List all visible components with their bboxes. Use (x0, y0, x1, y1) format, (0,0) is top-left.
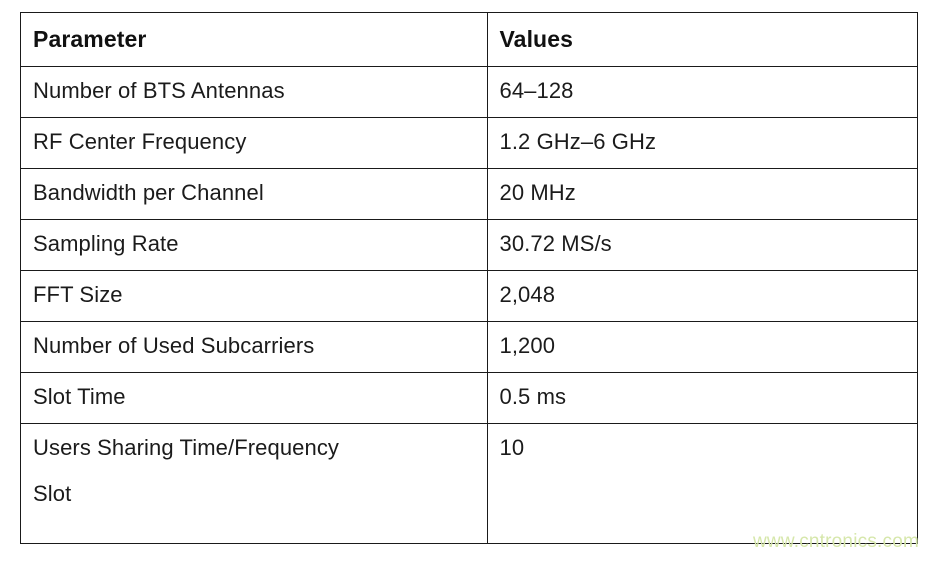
cell-parameter-line-2: Slot (33, 479, 487, 509)
column-header-parameter: Parameter (21, 13, 487, 67)
cell-parameter: Slot Time (21, 373, 487, 424)
column-header-values: Values (487, 13, 917, 67)
cell-value: 2,048 (487, 271, 917, 322)
table-row: Sampling Rate 30.72 MS/s (21, 220, 917, 271)
page-root: Parameter Values Number of BTS Antennas … (0, 0, 935, 566)
cell-parameter: Bandwidth per Channel (21, 169, 487, 220)
table-body: Number of BTS Antennas 64–128 RF Center … (21, 67, 917, 544)
cell-parameter: RF Center Frequency (21, 118, 487, 169)
table-row: FFT Size 2,048 (21, 271, 917, 322)
cell-parameter: Number of BTS Antennas (21, 67, 487, 118)
cell-value: 64–128 (487, 67, 917, 118)
table-row: Bandwidth per Channel 20 MHz (21, 169, 917, 220)
table-header-row: Parameter Values (21, 13, 917, 67)
cell-parameter-line-1: Users Sharing Time/Frequency (33, 435, 339, 460)
cell-value: 20 MHz (487, 169, 917, 220)
table-row: Number of BTS Antennas 64–128 (21, 67, 917, 118)
cell-parameter: FFT Size (21, 271, 487, 322)
cell-value: 10 (487, 424, 917, 544)
table-row: Users Sharing Time/FrequencySlot 10 (21, 424, 917, 544)
parameters-table: Parameter Values Number of BTS Antennas … (21, 13, 917, 543)
cell-value: 30.72 MS/s (487, 220, 917, 271)
cell-parameter: Sampling Rate (21, 220, 487, 271)
cell-value: 0.5 ms (487, 373, 917, 424)
cell-value: 1.2 GHz–6 GHz (487, 118, 917, 169)
table-row: RF Center Frequency 1.2 GHz–6 GHz (21, 118, 917, 169)
table-row: Number of Used Subcarriers 1,200 (21, 322, 917, 373)
cell-parameter: Number of Used Subcarriers (21, 322, 487, 373)
table-header: Parameter Values (21, 13, 917, 67)
parameters-table-container: Parameter Values Number of BTS Antennas … (20, 12, 918, 544)
site-watermark: www.cntronics.com (753, 531, 919, 553)
cell-parameter: Users Sharing Time/FrequencySlot (21, 424, 487, 544)
table-row: Slot Time 0.5 ms (21, 373, 917, 424)
cell-value: 1,200 (487, 322, 917, 373)
